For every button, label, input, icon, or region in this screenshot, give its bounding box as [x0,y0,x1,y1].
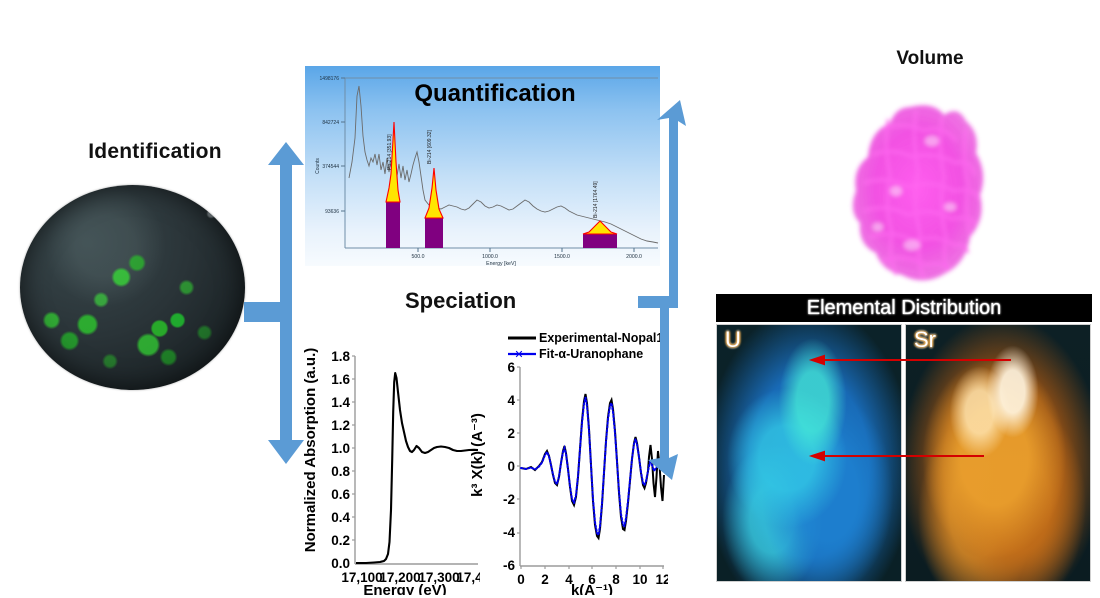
volume-3d-render [838,95,1028,290]
exafs-xtick-10: 10 [632,572,647,587]
volume-title: Volume [830,48,1030,70]
exafs-xtick-2: 2 [541,572,549,587]
quantification-title: Quantification [380,80,610,108]
quant-ytick-2: 374544 [322,164,339,170]
exafs-ylabel: k³ Χ(k) (A⁻³) [469,413,486,497]
xanes-ytick-0.2: 0.2 [331,533,350,548]
quant-xtick-1: 1000.0 [482,254,498,260]
xanes-ytick-1.0: 1.0 [331,441,350,456]
exafs-ytick-m6: -6 [503,558,515,573]
quant-xtick-2: 1500.0 [554,254,570,260]
xanes-ytick-0.6: 0.6 [331,487,350,502]
exafs-xlabel: k(A⁻¹) [571,582,613,595]
exafs-legend-label-1: Fit-α-Uranophane [539,347,643,361]
xanes-ytick-1.6: 1.6 [331,372,350,387]
exafs-ytick-2: 2 [507,426,515,441]
xanes-ytick-0.0: 0.0 [331,556,350,571]
xanes-ytick-1.4: 1.4 [331,395,350,410]
exafs-ytick-m2: -2 [503,492,515,507]
xanes-ylabel: Normalized Absorption (a.u.) [302,348,319,552]
identification-title: Identification [40,140,270,164]
speciation-title: Speciation [405,288,585,314]
quant-peak-label-1: Bi-214 [609.32] [427,129,433,164]
xanes-ytick-1.2: 1.2 [331,418,350,433]
exafs-ytick-0: 0 [507,459,515,474]
flow-arrow-results-split [638,88,718,488]
quant-ylabel: Counts [315,158,321,174]
quant-ytick-1: 842724 [322,120,339,126]
exafs-ytick-4: 4 [507,393,515,408]
xanes-ytick-0.4: 0.4 [331,510,350,525]
exafs-xtick-8: 8 [612,572,620,587]
exafs-xtick-0: 0 [517,572,525,587]
xanes-chart: Normalized Absorption (a.u.) 1.8 1.6 1.4… [300,340,480,595]
identification-sample-image [20,185,245,390]
xanes-xlabel: Energy (eV) [363,582,446,595]
exafs-xtick-12: 12 [655,572,668,587]
quant-xlabel: Energy [keV] [486,261,516,266]
elemental-correlation-arrows [716,294,1092,584]
xanes-ytick-0.8: 0.8 [331,464,350,479]
quant-xtick-0: 500.0 [412,254,425,260]
sample-disc-photo [20,185,245,390]
quant-peak-label-2: Bi-214 [1764.49] [593,181,599,218]
exafs-ytick-m4: -4 [503,525,515,540]
quant-ytick-0: 1498176 [320,76,340,82]
quant-peak-label-0: Pb-214 [351.93] [387,134,393,170]
quant-ytick-3: 93636 [325,209,339,215]
xanes-ytick-1.8: 1.8 [331,349,350,364]
elemental-distribution-panel: Elemental Distribution U Sr [716,294,1092,584]
exafs-legend-marker-1: ✕ [514,349,523,361]
exafs-ytick-6: 6 [507,360,515,375]
